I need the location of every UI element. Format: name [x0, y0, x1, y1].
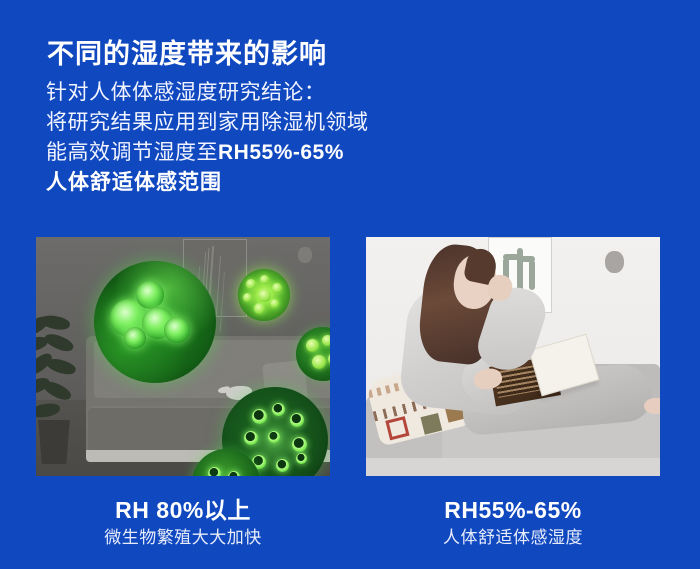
caption-subtitle-left: 微生物繁殖大大加快	[36, 525, 330, 551]
body-line-1: 针对人体体感湿度研究结论：	[46, 78, 369, 108]
plant-pot-dim	[36, 420, 72, 464]
photo-high-humidity	[36, 237, 330, 476]
body-line-2: 将研究结果应用到家用除湿机领域	[46, 108, 369, 138]
body-line-3-prefix: 能高效调节湿度至	[46, 141, 218, 164]
wall-knob-dim	[298, 247, 312, 263]
page-title: 不同的湿度带来的影响	[47, 35, 327, 73]
body-line-4: 人体舒适体感范围	[46, 168, 369, 198]
sofa-floor-shadow	[366, 458, 660, 476]
germ-sphere-large	[94, 261, 216, 383]
germ-sphere-small	[238, 269, 290, 321]
humidity-infographic-poster: 不同的湿度带来的影响 针对人体体感湿度研究结论： 将研究结果应用到家用除湿机领域…	[0, 0, 700, 569]
caption-title-right: RH55%-65%	[366, 495, 660, 525]
caption-high-humidity: RH 80%以上 微生物繁殖大大加快	[36, 495, 330, 551]
caption-subtitle-right: 人体舒适体感湿度	[366, 525, 660, 551]
potted-plant-dim	[36, 316, 88, 428]
body-copy: 针对人体体感湿度研究结论： 将研究结果应用到家用除湿机领域 能高效调节湿度至RH…	[46, 78, 369, 198]
wall-knob-bright	[605, 251, 624, 273]
photo-comfort-humidity	[366, 237, 660, 476]
caption-comfort-humidity: RH55%-65% 人体舒适体感湿度	[366, 495, 660, 551]
body-line-3: 能高效调节湿度至RH55%-65%	[46, 138, 369, 168]
caption-title-left: RH 80%以上	[36, 495, 330, 525]
body-line-3-highlight: RH55%-65%	[218, 141, 344, 164]
woman-foot	[644, 398, 660, 414]
